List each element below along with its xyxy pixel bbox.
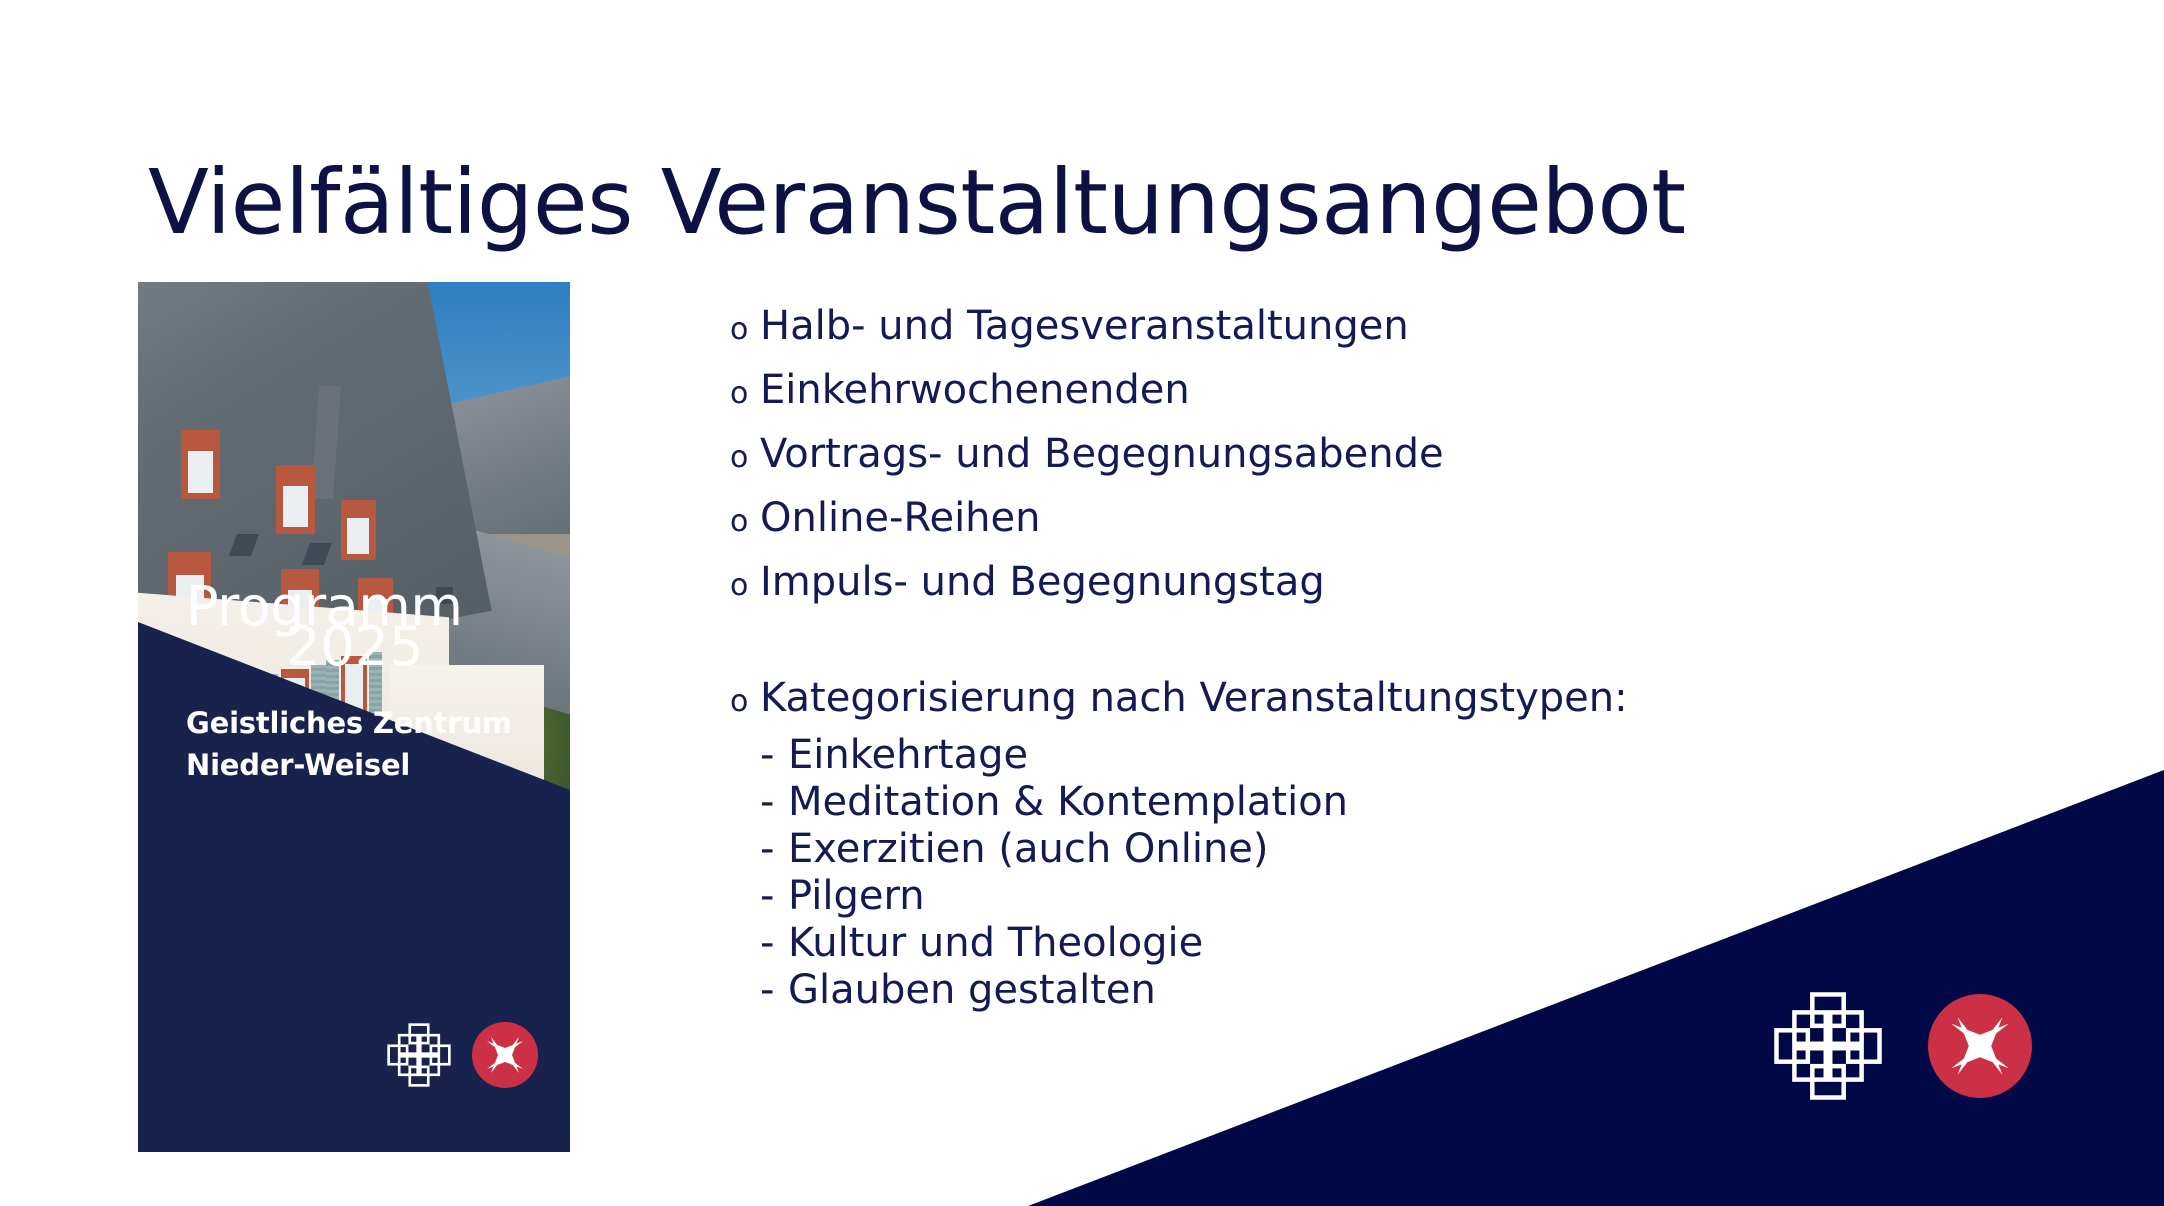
list-item-label: Einkehrwochenenden: [760, 360, 1190, 420]
brochure-cover-image: Programm 2025 Geistliches Zentrum Nieder…: [138, 282, 570, 1152]
list-item-label: Online-Reihen: [760, 488, 1041, 548]
sub-list-item-label: Exerzitien (auch Online): [788, 826, 1269, 873]
dash-marker-icon: -: [760, 920, 788, 967]
sub-list-item: - Kultur und Theologie: [730, 920, 1910, 967]
list-item-label: Kategorisierung nach Veranstaltungstypen…: [760, 668, 1628, 728]
organisation-line-2: Nieder-Weisel: [186, 744, 512, 786]
corner-logo-pair: [1772, 990, 2032, 1102]
brochure-program-year: 2025: [286, 620, 423, 674]
list-item-label: Vortrags- und Begegnungsabende: [760, 424, 1444, 484]
list-item: o Impuls- und Begegnungstag: [730, 552, 1910, 616]
bullet-marker-icon: o: [730, 428, 760, 488]
maltese-cross-glyph: [480, 1030, 530, 1080]
list-item: o Halb- und Tagesveranstaltungen: [730, 296, 1910, 360]
content-list: o Halb- und Tagesveranstaltungen o Einke…: [730, 296, 1910, 1014]
sub-list-item: - Einkehrtage: [730, 732, 1910, 779]
list-item: o Vortrags- und Begegnungsabende: [730, 424, 1910, 488]
sub-list-item-label: Kultur und Theologie: [788, 920, 1203, 967]
bullet-marker-icon: o: [730, 300, 760, 360]
list-item: o Einkehrwochenenden: [730, 360, 1910, 424]
list-item-categories-heading: o Kategorisierung nach Veranstaltungstyp…: [730, 668, 1910, 732]
maltese-cross-logo-icon: [472, 1022, 538, 1088]
sub-list-item: - Pilgern: [730, 873, 1910, 920]
dash-marker-icon: -: [760, 967, 788, 1014]
johanniter-cross-logo-icon: [386, 1022, 452, 1088]
list-item-label: Halb- und Tagesveranstaltungen: [760, 296, 1409, 356]
sub-list-item: - Exerzitien (auch Online): [730, 826, 1910, 873]
maltese-cross-glyph: [1940, 1006, 2020, 1086]
sub-list-item-label: Glauben gestalten: [788, 967, 1156, 1014]
list-group-spacer: [730, 616, 1910, 668]
bullet-marker-icon: o: [730, 556, 760, 616]
dash-marker-icon: -: [760, 826, 788, 873]
johanniter-cross-logo-icon: [1772, 990, 1884, 1102]
bullet-marker-icon: o: [730, 492, 760, 552]
page-title: Vielfältiges Veranstaltungsangebot: [148, 156, 1686, 249]
list-item: o Online-Reihen: [730, 488, 1910, 552]
maltese-cross-logo-icon: [1928, 994, 2032, 1098]
sub-list-item-label: Pilgern: [788, 873, 925, 920]
dash-marker-icon: -: [760, 732, 788, 779]
brochure-logo-pair: [386, 1022, 538, 1088]
dash-marker-icon: -: [760, 873, 788, 920]
bullet-marker-icon: o: [730, 364, 760, 424]
brochure-organisation: Geistliches Zentrum Nieder-Weisel: [186, 702, 512, 786]
sub-list-item-label: Einkehrtage: [788, 732, 1028, 779]
sub-list-item: - Meditation & Kontemplation: [730, 779, 1910, 826]
dash-marker-icon: -: [760, 779, 788, 826]
bullet-marker-icon: o: [730, 672, 760, 732]
organisation-line-1: Geistliches Zentrum: [186, 702, 512, 744]
slide-canvas: Vielfältiges Veranstaltungsangebot o Hal…: [0, 0, 2164, 1206]
sub-list-item: - Glauben gestalten: [730, 967, 1910, 1014]
sub-list-item-label: Meditation & Kontemplation: [788, 779, 1348, 826]
list-item-label: Impuls- und Begegnungstag: [760, 552, 1325, 612]
